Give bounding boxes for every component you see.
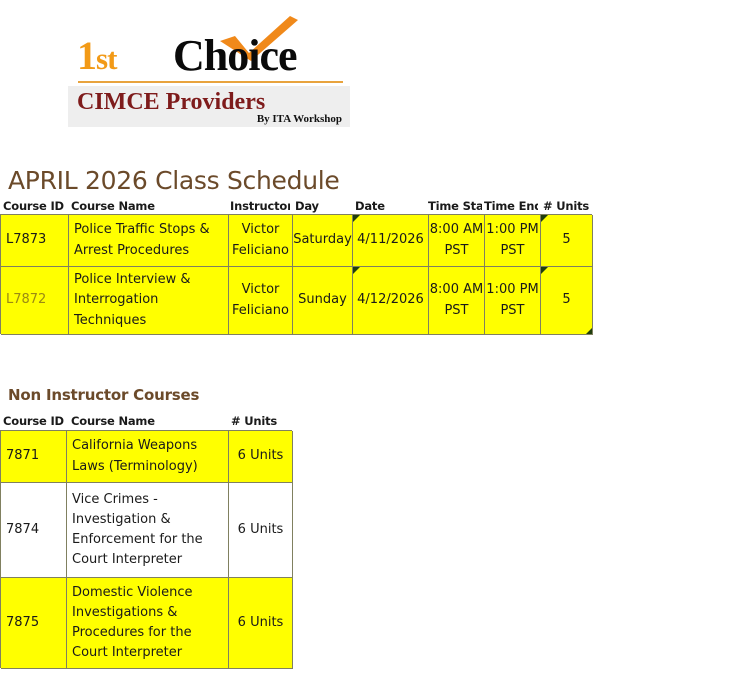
table-row[interactable]: 1:00 PM PST <box>485 267 541 335</box>
schedule-table: L7873 Police Traffic Stops & Arrest Proc… <box>0 214 592 334</box>
comment-indicator-icon <box>541 267 548 274</box>
cell-units: 5 <box>541 290 592 310</box>
list-item[interactable]: 6 Units <box>229 431 293 483</box>
cell-units: 6 Units <box>229 520 292 540</box>
schedule-col-course-id: Course ID <box>3 198 67 214</box>
cell-course-id: 7874 <box>6 520 66 540</box>
schedule-header-row: Course ID Course Name Instructor Day Dat… <box>0 198 600 214</box>
schedule-col-day: Day <box>295 198 350 214</box>
cell-time-start: 8:00 AM PST <box>429 220 484 260</box>
table-row[interactable]: L7873 <box>1 215 69 267</box>
cell-instructor: Victor Feliciano <box>229 220 292 260</box>
comment-indicator-icon <box>353 215 360 222</box>
logo-divider-rule <box>78 81 343 83</box>
cell-course-id: L7873 <box>6 230 68 250</box>
logo-brand-word: Choice <box>173 34 297 78</box>
table-row[interactable]: Sunday <box>293 267 353 335</box>
company-logo: 1st Choice CIMCE Providers By ITA Worksh… <box>68 8 350 127</box>
table-row[interactable]: 8:00 AM PST <box>429 267 485 335</box>
table-row[interactable]: 1:00 PM PST <box>485 215 541 267</box>
comment-indicator-icon <box>541 215 548 222</box>
cell-time-end: 1:00 PM PST <box>485 280 540 320</box>
selection-handle-icon[interactable] <box>586 328 592 334</box>
table-row[interactable]: Police Interview & Interrogation Techniq… <box>69 267 229 335</box>
logo-brand-prefix: 1st <box>77 36 116 76</box>
non-instructor-table: 7871 California Weapons Laws (Terminolog… <box>0 430 292 668</box>
cell-date: 4/11/2026 <box>353 230 428 250</box>
table-row[interactable]: 4/11/2026 <box>353 215 429 267</box>
table-row[interactable]: 5 <box>541 267 593 335</box>
cell-units: 5 <box>541 230 592 250</box>
list-item[interactable]: 6 Units <box>229 578 293 669</box>
list-item[interactable]: California Weapons Laws (Terminology) <box>67 431 229 483</box>
cell-time-end: 1:00 PM PST <box>485 220 540 260</box>
schedule-col-date: Date <box>355 198 425 214</box>
cell-course-id: L7872 <box>6 290 68 310</box>
cell-date: 4/12/2026 <box>353 290 428 310</box>
cell-course-name: California Weapons Laws (Terminology) <box>72 436 228 476</box>
cell-course-id: 7871 <box>6 446 66 466</box>
logo-byline: By ITA Workshop <box>257 114 342 125</box>
list-item[interactable]: 7871 <box>1 431 67 483</box>
logo-brand-numeral: 1 <box>77 33 96 78</box>
table-row[interactable]: 5 <box>541 215 593 267</box>
schedule-col-course-name: Course Name <box>71 198 225 214</box>
schedule-col-time-start: Time Star <box>428 198 482 214</box>
cell-instructor: Victor Feliciano <box>229 280 292 320</box>
comment-indicator-icon <box>353 267 360 274</box>
cell-time-start: 8:00 AM PST <box>429 280 484 320</box>
schedule-col-units: # Units <box>543 198 593 214</box>
non-instructor-section-title: Non Instructor Courses <box>8 386 199 404</box>
schedule-col-instructor: Instructor <box>230 198 290 214</box>
cell-day: Saturday <box>293 230 352 250</box>
non-instructor-header-row: Course ID Course Name # Units <box>0 413 300 429</box>
cell-course-name: Police Traffic Stops & Arrest Procedures <box>74 220 228 260</box>
cell-course-name: Police Interview & Interrogation Techniq… <box>74 270 228 330</box>
table-row[interactable]: L7872 <box>1 267 69 335</box>
cell-course-name: Vice Crimes - Investigation & Enforcemen… <box>72 490 228 571</box>
cell-units: 6 Units <box>229 446 292 466</box>
non-instructor-col-course-name: Course Name <box>71 413 221 429</box>
table-row[interactable]: Police Traffic Stops & Arrest Procedures <box>69 215 229 267</box>
list-item[interactable]: Vice Crimes - Investigation & Enforcemen… <box>67 483 229 578</box>
list-item[interactable]: 7874 <box>1 483 67 578</box>
cell-day: Sunday <box>293 290 352 310</box>
non-instructor-col-course-id: Course ID <box>3 413 65 429</box>
schedule-page-title: APRIL 2026 Class Schedule <box>8 166 339 195</box>
list-item[interactable]: 6 Units <box>229 483 293 578</box>
list-item[interactable]: 7875 <box>1 578 67 669</box>
cell-course-id: 7875 <box>6 613 66 633</box>
cell-course-name: Domestic Violence Investigations & Proce… <box>72 583 228 664</box>
table-row[interactable]: Victor Feliciano <box>229 215 293 267</box>
cell-units: 6 Units <box>229 613 292 633</box>
table-row[interactable]: Saturday <box>293 215 353 267</box>
table-row[interactable]: 4/12/2026 <box>353 267 429 335</box>
list-item[interactable]: Domestic Violence Investigations & Proce… <box>67 578 229 669</box>
non-instructor-col-units: # Units <box>231 413 289 429</box>
logo-subtitle: CIMCE Providers <box>77 89 265 115</box>
logo-brand-ordinal: st <box>96 41 116 76</box>
schedule-col-time-end: Time End <box>484 198 538 214</box>
table-row[interactable]: 8:00 AM PST <box>429 215 485 267</box>
table-row[interactable]: Victor Feliciano <box>229 267 293 335</box>
